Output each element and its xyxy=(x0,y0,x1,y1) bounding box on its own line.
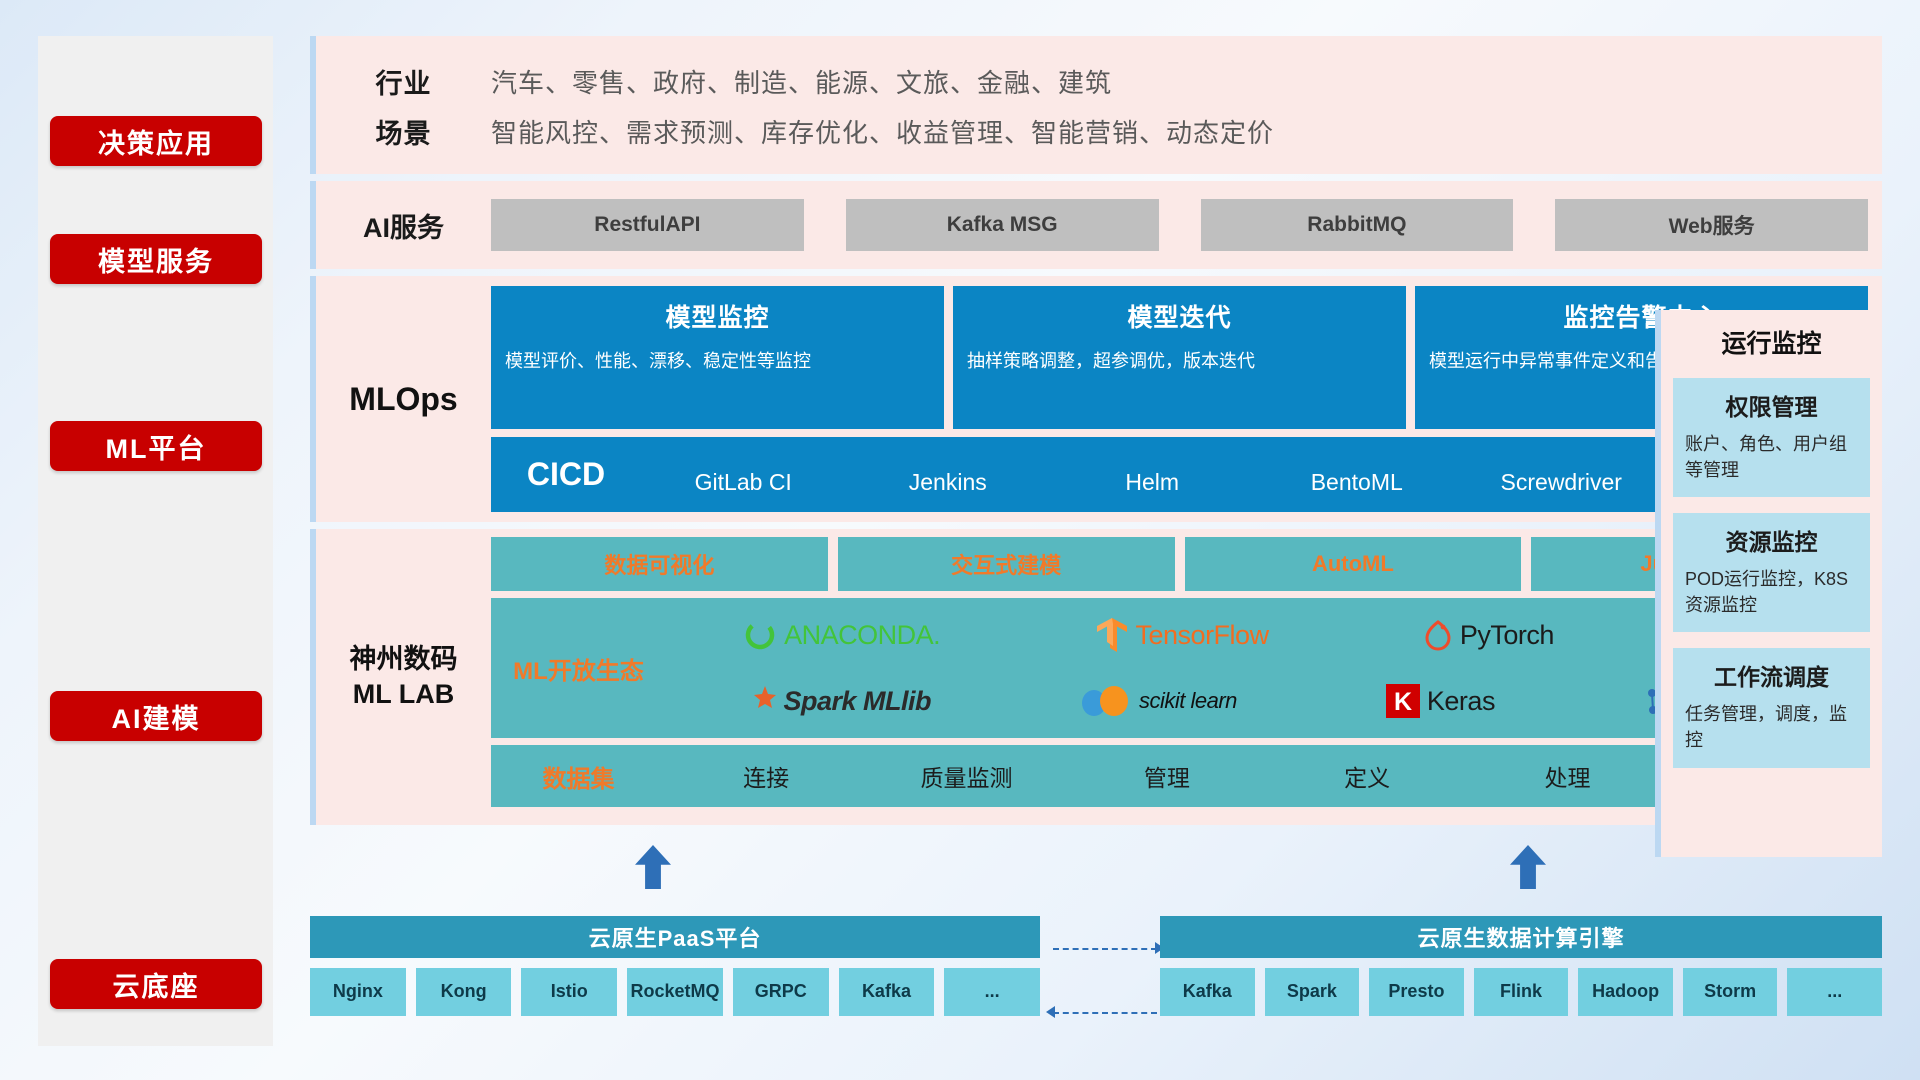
paas-platform-title: 云原生PaaS平台 xyxy=(310,916,1040,958)
data-engine-title: 云原生数据计算引擎 xyxy=(1160,916,1882,958)
paas-chip[interactable]: Nginx xyxy=(310,968,406,1016)
pytorch-icon xyxy=(1423,618,1453,652)
data-engine-chip[interactable]: Storm xyxy=(1683,968,1778,1016)
stage-chip-decision-app[interactable]: 决策应用 xyxy=(50,116,262,166)
stage-chip-label: AI建模 xyxy=(112,697,201,736)
scenario-row: 场景 智能风控、需求预测、库存优化、收益管理、智能营销、动态定价 xyxy=(316,106,1882,156)
scikit-learn-logo: scikit learn xyxy=(1080,684,1237,718)
up-arrow-paas-icon xyxy=(635,845,671,889)
tool-chip-interactive-modeling[interactable]: 交互式建模 xyxy=(838,537,1175,591)
stage-chip-label: 云底座 xyxy=(113,965,200,1004)
data-engine-chip[interactable]: Flink xyxy=(1474,968,1569,1016)
stage-rail: 决策应用 模型服务 ML平台 AI建模 云底座 xyxy=(38,36,273,1046)
ai-service-band: AI服务 RestfulAPI Kafka MSG RabbitMQ Web服务 xyxy=(310,181,1882,269)
mlops-card-model-monitor[interactable]: 模型监控 模型评价、性能、漂移、稳定性等监控 xyxy=(491,286,944,429)
stage-chip-model-service[interactable]: 模型服务 xyxy=(50,234,262,284)
tensorflow-icon xyxy=(1095,616,1129,654)
cicd-item[interactable]: GitLab CI xyxy=(641,469,846,495)
monitoring-card-permission[interactable]: 权限管理 账户、角色、用户组等管理 xyxy=(1673,378,1870,497)
cicd-title: CICD xyxy=(491,456,641,493)
tensorflow-logo: TensorFlow xyxy=(1095,616,1269,654)
ai-service-chip[interactable]: Web服务 xyxy=(1555,199,1868,251)
architecture-diagram: 决策应用 模型服务 ML平台 AI建模 云底座 行业 汽车、零售、政府、制造、能… xyxy=(0,0,1920,1080)
mlops-card-desc: 模型评价、性能、漂移、稳定性等监控 xyxy=(505,348,930,374)
paas-chip[interactable]: Kong xyxy=(416,968,512,1016)
stage-chip-cloud-base[interactable]: 云底座 xyxy=(50,959,262,1009)
data-engine-chip-list: Kafka Spark Presto Flink Hadoop Storm ..… xyxy=(1160,968,1882,1016)
mlops-card-title: 模型监控 xyxy=(505,298,930,334)
ai-modeling-band: 神州数码 ML LAB 数据可视化 交互式建模 AutoML JupyterLa… xyxy=(310,529,1882,825)
data-engine-chip[interactable]: Spark xyxy=(1265,968,1360,1016)
cloud-foundation: 云原生PaaS平台 Nginx Kong Istio RocketMQ GRPC… xyxy=(310,888,1882,1048)
mlops-band: MLOps 模型监控 模型评价、性能、漂移、稳定性等监控 模型迭代 抽样策略调整… xyxy=(310,276,1882,522)
spark-icon xyxy=(740,685,776,717)
ai-service-chip[interactable]: RestfulAPI xyxy=(491,199,804,251)
spark-mllib-label: Spark MLlib xyxy=(783,686,931,717)
scikit-learn-icon xyxy=(1080,684,1132,718)
monitoring-card-title: 权限管理 xyxy=(1685,388,1858,422)
industry-value: 汽车、零售、政府、制造、能源、文旅、金融、建筑 xyxy=(491,63,1112,100)
applications-band: 行业 汽车、零售、政府、制造、能源、文旅、金融、建筑 场景 智能风控、需求预测、… xyxy=(310,36,1882,174)
data-engine-chip[interactable]: Hadoop xyxy=(1578,968,1673,1016)
keras-logo: K Keras xyxy=(1386,684,1495,718)
pytorch-label: PyTorch xyxy=(1460,620,1554,651)
data-engine-group: 云原生数据计算引擎 Kafka Spark Presto Flink Hadoo… xyxy=(1160,916,1882,1016)
stage-chip-label: ML平台 xyxy=(106,427,207,466)
scikit-learn-label: scikit learn xyxy=(1139,688,1237,714)
tensorflow-label: TensorFlow xyxy=(1136,620,1269,651)
ml-lab-label-line1: 神州数码 xyxy=(350,642,458,677)
industry-label: 行业 xyxy=(316,62,491,101)
keras-icon: K xyxy=(1386,684,1420,718)
cicd-item[interactable]: Helm xyxy=(1050,469,1255,495)
ml-lab-label: 神州数码 ML LAB xyxy=(316,537,491,817)
monitoring-card-title: 资源监控 xyxy=(1685,523,1858,557)
main-column: 行业 汽车、零售、政府、制造、能源、文旅、金融、建筑 场景 智能风控、需求预测、… xyxy=(310,36,1882,832)
cicd-item[interactable]: Screwdriver xyxy=(1459,469,1664,495)
ai-service-chip[interactable]: RabbitMQ xyxy=(1201,199,1514,251)
stage-chip-ai-modeling[interactable]: AI建模 xyxy=(50,691,262,741)
data-engine-chip-more[interactable]: ... xyxy=(1787,968,1882,1016)
paas-chip[interactable]: Istio xyxy=(521,968,617,1016)
anaconda-label: ANACONDA. xyxy=(784,620,940,651)
monitoring-title: 运行监控 xyxy=(1673,324,1870,360)
dataset-title: 数据集 xyxy=(491,759,666,794)
dataset-item[interactable]: 处理 xyxy=(1467,759,1667,793)
monitoring-card-title: 工作流调度 xyxy=(1685,658,1858,692)
ml-ecosystem-title: ML开放生态 xyxy=(491,651,666,686)
dataset-item[interactable]: 定义 xyxy=(1267,759,1467,793)
monitoring-card-workflow[interactable]: 工作流调度 任务管理，调度，监控 xyxy=(1673,648,1870,767)
tool-chip-data-viz[interactable]: 数据可视化 xyxy=(491,537,828,591)
tool-chip-automl[interactable]: AutoML xyxy=(1185,537,1522,591)
pytorch-logo: PyTorch xyxy=(1423,618,1554,652)
mlops-card-title: 模型迭代 xyxy=(967,298,1392,334)
anaconda-icon xyxy=(743,618,777,652)
paas-chip[interactable]: Kafka xyxy=(839,968,935,1016)
monitoring-card-desc: 账户、角色、用户组等管理 xyxy=(1685,431,1858,483)
paas-chip-list: Nginx Kong Istio RocketMQ GRPC Kafka ... xyxy=(310,968,1040,1016)
ai-service-label: AI服务 xyxy=(316,206,491,245)
paas-chip[interactable]: GRPC xyxy=(733,968,829,1016)
mlops-card-model-iteration[interactable]: 模型迭代 抽样策略调整，超参调优，版本迭代 xyxy=(953,286,1406,429)
data-engine-chip[interactable]: Presto xyxy=(1369,968,1464,1016)
paas-platform-group: 云原生PaaS平台 Nginx Kong Istio RocketMQ GRPC… xyxy=(310,916,1040,1016)
paas-chip[interactable]: RocketMQ xyxy=(627,968,723,1016)
spark-mllib-logo: Spark MLlib xyxy=(740,685,931,717)
stage-chip-ml-platform[interactable]: ML平台 xyxy=(50,421,262,471)
ai-service-chip[interactable]: Kafka MSG xyxy=(846,199,1159,251)
dataset-item[interactable]: 连接 xyxy=(666,759,866,793)
dataset-item[interactable]: 质量监测 xyxy=(866,759,1066,793)
data-engine-chip[interactable]: Kafka xyxy=(1160,968,1255,1016)
monitoring-card-desc: 任务管理，调度，监控 xyxy=(1685,701,1858,753)
ai-service-items: RestfulAPI Kafka MSG RabbitMQ Web服务 xyxy=(491,199,1882,251)
monitoring-rail: 运行监控 权限管理 账户、角色、用户组等管理 资源监控 POD运行监控，K8S资… xyxy=(1655,310,1882,857)
monitoring-card-resource[interactable]: 资源监控 POD运行监控，K8S资源监控 xyxy=(1673,513,1870,632)
svg-text:K: K xyxy=(1394,688,1412,716)
cicd-item[interactable]: Jenkins xyxy=(846,469,1051,495)
anaconda-logo: ANACONDA. xyxy=(743,618,940,652)
up-arrow-data-engine-icon xyxy=(1510,845,1546,889)
dataset-item[interactable]: 管理 xyxy=(1067,759,1267,793)
mlops-card-desc: 抽样策略调整，超参调优，版本迭代 xyxy=(967,348,1392,374)
keras-label: Keras xyxy=(1427,686,1495,717)
stage-chip-label: 模型服务 xyxy=(98,240,214,279)
monitoring-card-desc: POD运行监控，K8S资源监控 xyxy=(1685,566,1858,618)
cicd-item[interactable]: BentoML xyxy=(1255,469,1460,495)
paas-chip-more[interactable]: ... xyxy=(944,968,1040,1016)
stage-chip-label: 决策应用 xyxy=(98,122,214,161)
industry-row: 行业 汽车、零售、政府、制造、能源、文旅、金融、建筑 xyxy=(316,56,1882,106)
mlops-label: MLOps xyxy=(316,286,491,512)
scenario-value: 智能风控、需求预测、库存优化、收益管理、智能营销、动态定价 xyxy=(491,113,1274,150)
ml-lab-label-line2: ML LAB xyxy=(353,677,455,712)
scenario-label: 场景 xyxy=(316,112,491,151)
